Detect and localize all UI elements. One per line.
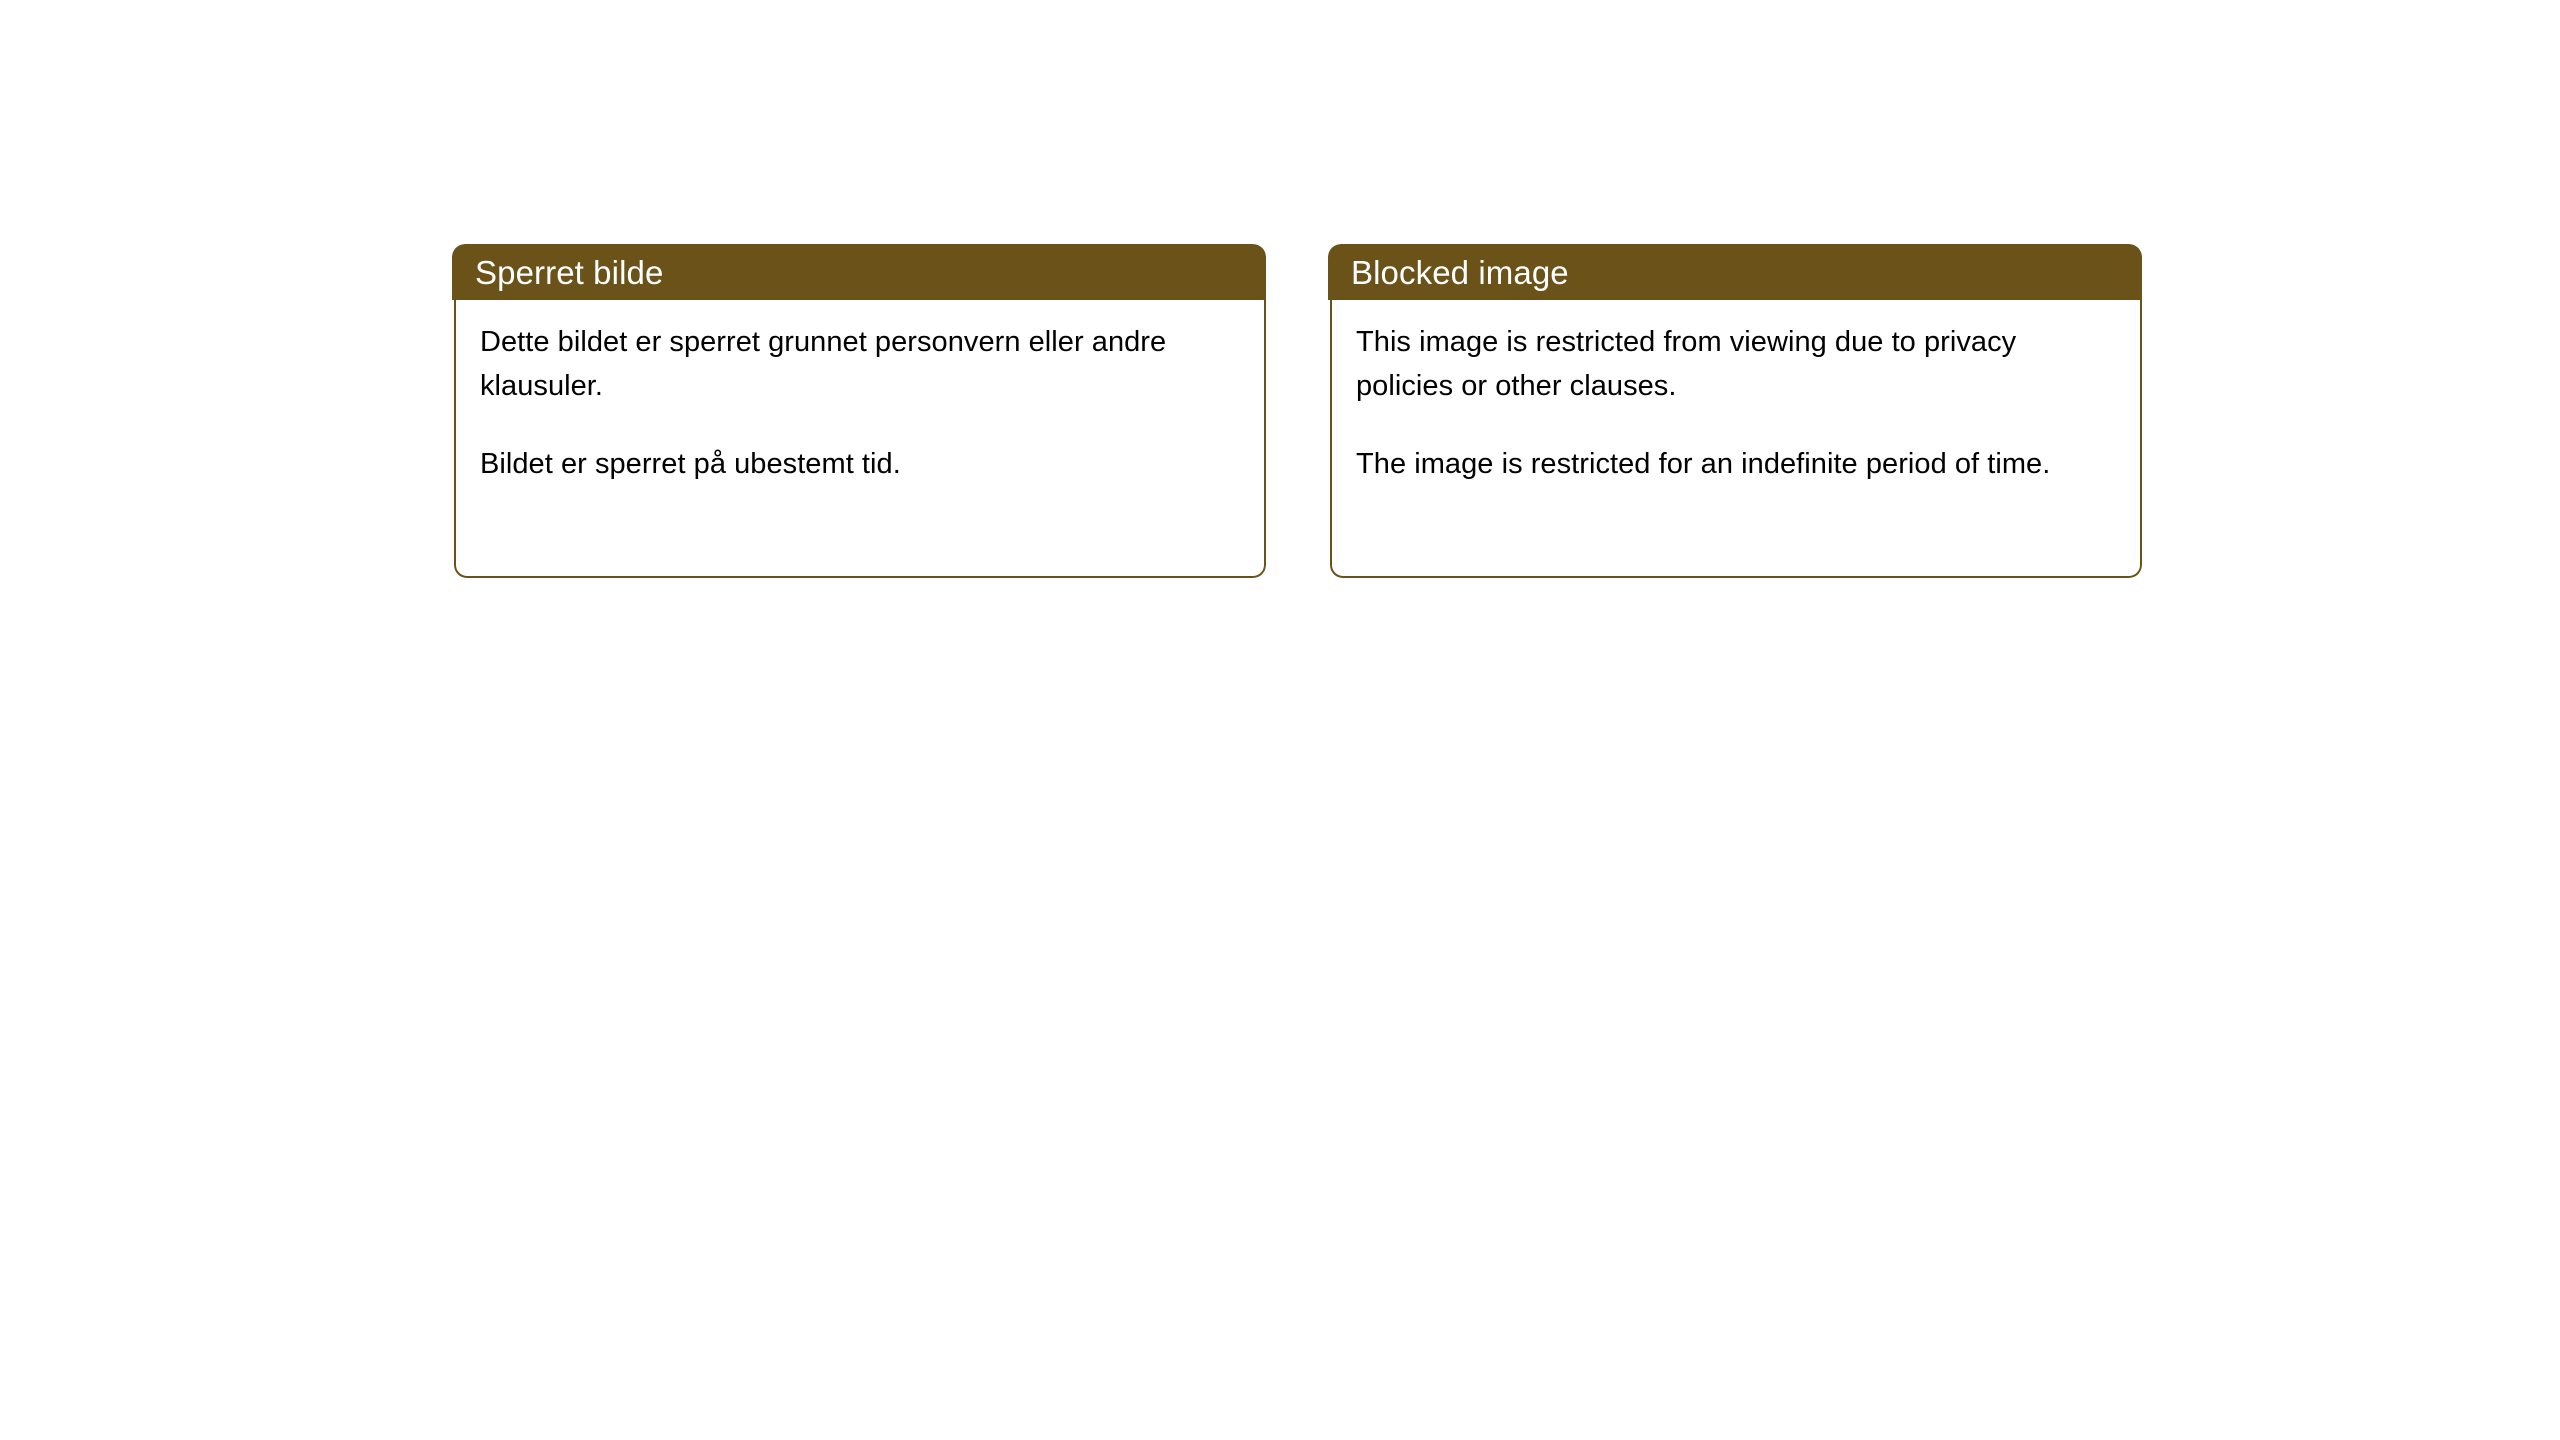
card-header-no: Sperret bilde [452, 244, 1266, 300]
card-paragraph-no-2: Bildet er sperret på ubestemt tid. [480, 442, 1240, 486]
card-body-no: Dette bildet er sperret grunnet personve… [452, 300, 1266, 578]
card-title-no: Sperret bilde [475, 256, 663, 289]
card-paragraph-no-1: Dette bildet er sperret grunnet personve… [480, 320, 1240, 408]
blocked-image-card-no: Sperret bilde Dette bildet er sperret gr… [452, 244, 1266, 578]
card-header-en: Blocked image [1328, 244, 2142, 300]
card-title-en: Blocked image [1351, 256, 1569, 289]
card-paragraph-en-2: The image is restricted for an indefinit… [1356, 442, 2116, 486]
page-root: Sperret bilde Dette bildet er sperret gr… [0, 0, 2560, 1440]
card-body-en: This image is restricted from viewing du… [1328, 300, 2142, 578]
card-paragraph-en-1: This image is restricted from viewing du… [1356, 320, 2116, 408]
blocked-image-card-en: Blocked image This image is restricted f… [1328, 244, 2142, 578]
notice-card-row: Sperret bilde Dette bildet er sperret gr… [452, 244, 2142, 578]
